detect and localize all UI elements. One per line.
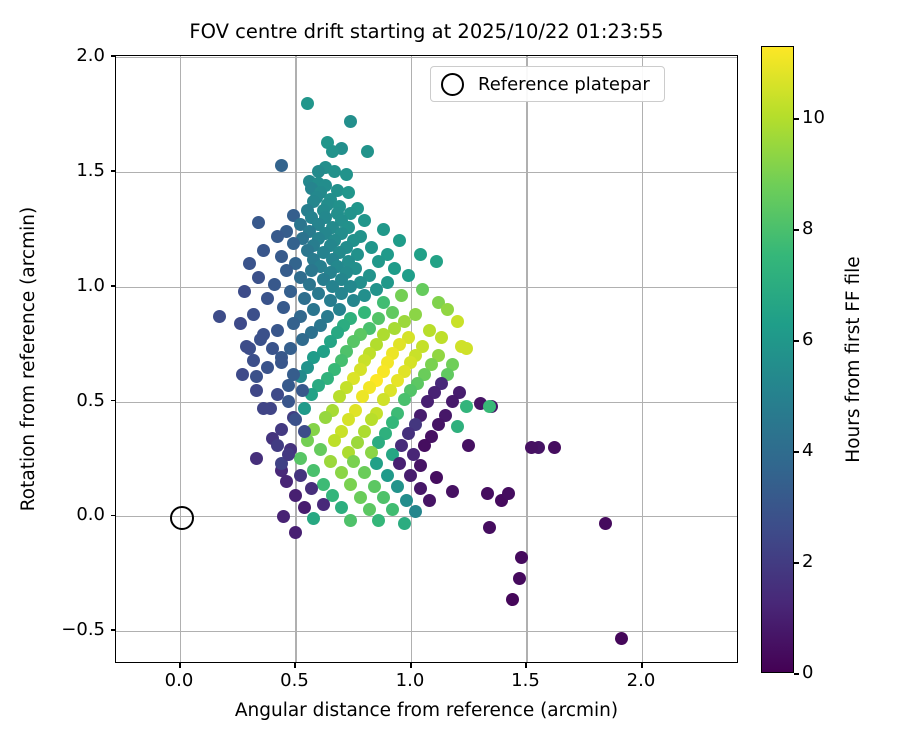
scatter-point — [324, 455, 337, 468]
scatter-point — [252, 216, 265, 229]
scatter-point — [432, 418, 445, 431]
scatter-point — [280, 475, 293, 488]
scatter-point — [307, 303, 320, 316]
scatter-point — [409, 308, 422, 321]
scatter-point — [615, 632, 628, 645]
scatter-point — [386, 503, 399, 516]
scatter-point — [319, 411, 332, 424]
scatter-point — [287, 317, 300, 330]
grid-line-horizontal — [116, 631, 737, 632]
scatter-point — [271, 439, 284, 452]
scatter-point — [289, 489, 302, 502]
colorbar-tick-label: 8 — [802, 218, 813, 240]
scatter-point — [261, 292, 274, 305]
scatter-point — [268, 278, 281, 291]
legend: Reference platepar — [430, 66, 665, 102]
scatter-point — [271, 324, 284, 337]
scatter-point — [354, 491, 367, 504]
scatter-point — [317, 478, 330, 491]
scatter-point — [451, 315, 464, 328]
scatter-point — [236, 368, 249, 381]
colorbar-tick-label: 10 — [802, 107, 825, 129]
scatter-point — [391, 480, 404, 493]
scatter-point — [423, 494, 436, 507]
y-tick-mark — [111, 285, 116, 287]
scatter-point — [277, 301, 290, 314]
scatter-point — [213, 310, 226, 323]
scatter-point — [314, 443, 327, 456]
scatter-point — [483, 521, 496, 534]
colorbar-tick-label: 6 — [802, 329, 813, 351]
plot-area — [115, 55, 738, 663]
colorbar-tick-mark — [794, 562, 799, 564]
scatter-point — [280, 264, 293, 277]
scatter-point — [525, 441, 538, 454]
scatter-point — [358, 289, 371, 302]
scatter-point — [282, 448, 295, 461]
scatter-point — [344, 478, 357, 491]
scatter-point — [317, 498, 330, 511]
scatter-point — [402, 269, 415, 282]
colorbar — [761, 46, 794, 673]
scatter-point — [400, 494, 413, 507]
grid-line-vertical — [642, 56, 643, 662]
x-tick-label: 1.0 — [375, 670, 445, 692]
colorbar-tick-mark — [794, 229, 799, 231]
scatter-point — [358, 306, 371, 319]
scatter-point — [402, 427, 415, 440]
scatter-point — [377, 491, 390, 504]
scatter-point — [275, 250, 288, 263]
scatter-point — [326, 145, 339, 158]
scatter-point — [301, 97, 314, 110]
scatter-point — [435, 331, 448, 344]
scatter-point — [252, 271, 265, 284]
scatter-point — [307, 512, 320, 525]
scatter-point — [287, 368, 300, 381]
x-tick-label: 1.5 — [490, 670, 560, 692]
x-tick-mark — [525, 663, 527, 668]
grid-line-horizontal — [116, 172, 737, 173]
scatter-point — [328, 434, 341, 447]
scatter-point — [372, 514, 385, 527]
x-axis-label: Angular distance from reference (arcmin) — [115, 700, 738, 721]
scatter-point — [421, 395, 434, 408]
scatter-point — [430, 471, 443, 484]
scatter-point — [305, 264, 318, 277]
reference-platepar-marker — [170, 506, 194, 530]
scatter-point — [298, 402, 311, 415]
scatter-point — [271, 230, 284, 243]
scatter-point — [414, 482, 427, 495]
scatter-point — [548, 441, 561, 454]
scatter-point — [287, 237, 300, 250]
x-tick-label: 0.0 — [144, 670, 214, 692]
colorbar-tick-label: 2 — [802, 551, 813, 573]
scatter-point — [250, 370, 263, 383]
scatter-point — [257, 328, 270, 341]
colorbar-tick-mark — [794, 118, 799, 120]
scatter-point — [395, 289, 408, 302]
scatter-point — [423, 324, 436, 337]
scatter-point — [381, 469, 394, 482]
scatter-point — [368, 480, 381, 493]
scatter-point — [388, 322, 401, 335]
colorbar-tick-mark — [794, 340, 799, 342]
scatter-point — [342, 186, 355, 199]
scatter-point — [347, 455, 360, 468]
scatter-point — [344, 514, 357, 527]
y-tick-mark — [111, 629, 116, 631]
scatter-point — [275, 159, 288, 172]
scatter-point — [377, 393, 390, 406]
scatter-point — [414, 248, 427, 261]
scatter-point — [398, 393, 411, 406]
scatter-point — [277, 510, 290, 523]
scatter-point — [294, 452, 307, 465]
scatter-point — [599, 517, 612, 530]
figure: FOV centre drift starting at 2025/10/22 … — [0, 0, 900, 750]
grid-line-horizontal — [116, 57, 737, 58]
scatter-point — [347, 294, 360, 307]
scatter-point — [372, 255, 385, 268]
scatter-point — [335, 466, 348, 479]
scatter-point — [446, 395, 459, 408]
grid-line-horizontal — [116, 516, 737, 517]
scatter-point — [335, 501, 348, 514]
colorbar-tick-label: 4 — [802, 440, 813, 462]
scatter-point — [282, 379, 295, 392]
scatter-point — [398, 517, 411, 530]
scatter-point — [414, 459, 427, 472]
scatter-point — [460, 342, 473, 355]
scatter-point — [340, 168, 353, 181]
scatter-point — [483, 400, 496, 413]
scatter-point — [446, 485, 459, 498]
scatter-point — [296, 384, 309, 397]
scatter-point — [481, 487, 494, 500]
scatter-point — [513, 572, 526, 585]
scatter-point — [377, 223, 390, 236]
scatter-point — [298, 501, 311, 514]
scatter-point — [247, 308, 260, 321]
y-tick-mark — [111, 515, 116, 517]
scatter-point — [243, 257, 256, 270]
x-tick-label: 2.0 — [606, 670, 676, 692]
scatter-point — [298, 292, 311, 305]
scatter-point — [289, 413, 302, 426]
scatter-point — [342, 413, 355, 426]
scatter-point — [250, 452, 263, 465]
x-tick-mark — [179, 663, 181, 668]
open-circle-icon — [441, 73, 464, 96]
scatter-point — [275, 356, 288, 369]
scatter-point — [386, 306, 399, 319]
chart-title: FOV centre drift starting at 2025/10/22 … — [115, 20, 738, 44]
scatter-point — [441, 303, 454, 316]
scatter-point — [462, 439, 475, 452]
scatter-point — [506, 593, 519, 606]
colorbar-tick-mark — [794, 673, 799, 675]
scatter-point — [238, 285, 251, 298]
scatter-point — [250, 384, 263, 397]
scatter-point — [460, 400, 473, 413]
scatter-point — [502, 487, 515, 500]
scatter-point — [363, 503, 376, 516]
y-axis-label: Rotation from reference (arcmin) — [18, 55, 48, 663]
scatter-point — [361, 145, 374, 158]
grid-line-vertical — [180, 56, 181, 662]
x-tick-mark — [294, 663, 296, 668]
y-tick-mark — [111, 400, 116, 402]
colorbar-tick-mark — [794, 451, 799, 453]
scatter-point — [370, 283, 383, 296]
scatter-point — [257, 244, 270, 257]
scatter-point — [234, 317, 247, 330]
scatter-point — [365, 413, 378, 426]
scatter-point — [418, 439, 431, 452]
scatter-point — [358, 214, 371, 227]
scatter-point — [388, 262, 401, 275]
scatter-point — [305, 482, 318, 495]
x-tick-label: 0.5 — [259, 670, 329, 692]
scatter-point — [296, 333, 309, 346]
scatter-point — [451, 420, 464, 433]
scatter-point — [393, 234, 406, 247]
scatter-point — [358, 466, 371, 479]
scatter-point — [404, 469, 417, 482]
scatter-point — [416, 283, 429, 296]
x-tick-mark — [410, 663, 412, 668]
scatter-point — [289, 526, 302, 539]
scatter-point — [365, 241, 378, 254]
scatter-point — [282, 395, 295, 408]
scatter-point — [294, 469, 307, 482]
y-tick-mark — [111, 170, 116, 172]
scatter-point — [312, 287, 325, 300]
scatter-point — [247, 354, 260, 367]
scatter-point — [370, 457, 383, 470]
y-tick-mark — [111, 55, 116, 57]
scatter-point — [393, 457, 406, 470]
grid-line-vertical — [526, 56, 527, 662]
scatter-point — [307, 464, 320, 477]
colorbar-label: Hours from first FF file — [843, 46, 869, 673]
scatter-point — [430, 255, 443, 268]
grid-line-vertical — [295, 56, 296, 662]
scatter-point — [261, 361, 274, 374]
legend-entry-label: Reference platepar — [478, 74, 650, 95]
scatter-point — [264, 402, 277, 415]
scatter-point — [381, 276, 394, 289]
scatter-point — [344, 115, 357, 128]
colorbar-tick-label: 0 — [802, 662, 813, 684]
x-tick-mark — [641, 663, 643, 668]
